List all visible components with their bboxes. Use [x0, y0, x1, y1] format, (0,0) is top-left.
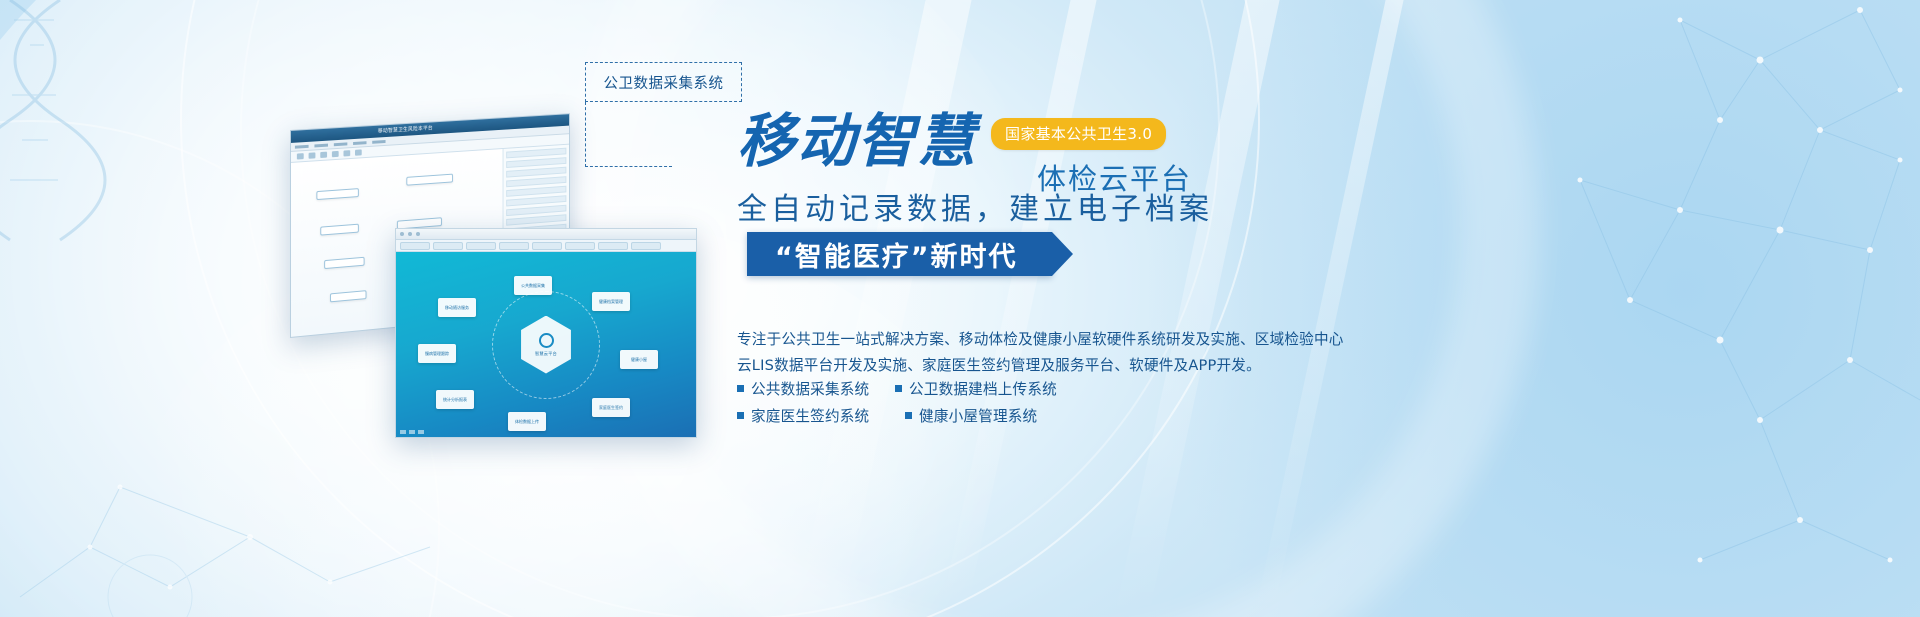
headline-subtitle: 体检云平台	[1037, 156, 1192, 198]
bullet-label: 家庭医生签约系统	[751, 405, 869, 426]
callout-label: 公卫数据采集系统	[604, 72, 724, 93]
description-block: 专注于公共卫生一站式解决方案、移动体检及健康小屋软硬件系统研发及实施、区域检验中…	[737, 327, 1317, 379]
screenshot-mockup-front: 智慧云平台 公共数据采集 健康档案管理 健康小屋 家庭医生签约 体检数据上传 统…	[395, 228, 697, 438]
bullet-label: 公共数据采集系统	[751, 378, 869, 399]
light-column-1	[794, 0, 971, 617]
light-column-2	[939, 0, 1096, 617]
mockup-front-canvas: 智慧云平台 公共数据采集 健康档案管理 健康小屋 家庭医生签约 体检数据上传 统…	[396, 252, 696, 437]
badge-national-public-health: 国家基本公共卫生3.0	[991, 118, 1166, 150]
callout-public-health-data-collection: 公卫数据采集系统	[585, 62, 742, 102]
mockup-front-footer	[400, 430, 424, 434]
mockup-node	[324, 257, 364, 269]
mockup-node	[316, 188, 358, 200]
mockup-hex-icon	[539, 333, 554, 348]
service-bullet-list: 公共数据采集系统 公卫数据建档上传系统 家庭医生签约系统 健康小屋管理系统	[737, 378, 1067, 426]
mockup-node	[320, 224, 359, 236]
mockup-pod: 健康档案管理	[592, 292, 630, 311]
bullet-square-icon	[737, 412, 744, 419]
mockup-pod: 统计分析报表	[436, 390, 474, 409]
mockup-node	[330, 290, 367, 302]
bullet-label: 公卫数据建档上传系统	[909, 378, 1057, 399]
mockup-hex-center: 智慧云平台	[517, 316, 575, 374]
mockup-pod: 家庭医生签约	[592, 398, 630, 417]
bullet-item-public-data-collection: 公共数据采集系统	[737, 378, 887, 399]
mockup-front-titlebar	[396, 229, 696, 240]
mockup-front-tabbar	[396, 240, 696, 252]
mockup-pod: 体检数据上传	[508, 412, 546, 431]
bullet-item-family-doctor: 家庭医生签约系统	[737, 405, 887, 426]
mockup-pod: 慢病管理跟踪	[418, 344, 456, 363]
ribbon-label: “智能医疗”新时代	[775, 235, 1018, 274]
promotional-banner: 公卫数据采集系统 移动智慧卫生风险本平台	[0, 0, 1920, 617]
callout-leader-line	[585, 102, 672, 167]
mockup-pod: 移动随访服务	[438, 298, 476, 317]
mockup-center-caption: 智慧云平台	[535, 351, 557, 357]
mockup-pod: 健康小屋	[620, 350, 658, 369]
network-constellation-decoration	[1160, 0, 1920, 617]
mockup-pod: 公共数据采集	[514, 276, 552, 295]
bullet-item-health-cabin: 健康小屋管理系统	[905, 405, 1062, 426]
description-line-1: 专注于公共卫生一站式解决方案、移动体检及健康小屋软硬件系统研发及实施、区域检验中…	[737, 327, 1317, 353]
bullet-square-icon	[737, 385, 744, 392]
bullet-square-icon	[895, 385, 902, 392]
headline-main-title: 移动智慧	[737, 112, 977, 170]
headline-block: 移动智慧 国家基本公共卫生3.0 体检云平台 全自动记录数据，建立电子档案	[737, 112, 1437, 228]
mockup-node	[406, 174, 453, 186]
ribbon-smart-medical-era: “智能医疗”新时代	[747, 232, 1052, 276]
bullet-item-archive-upload: 公卫数据建档上传系统	[895, 378, 1062, 399]
bullet-label: 健康小屋管理系统	[919, 405, 1037, 426]
bullet-square-icon	[905, 412, 912, 419]
dna-helix-icon	[0, 0, 150, 300]
description-line-2: 云LIS数据平台开发及实施、家庭医生签约管理及服务平台、软硬件及APP开发。	[737, 353, 1317, 379]
